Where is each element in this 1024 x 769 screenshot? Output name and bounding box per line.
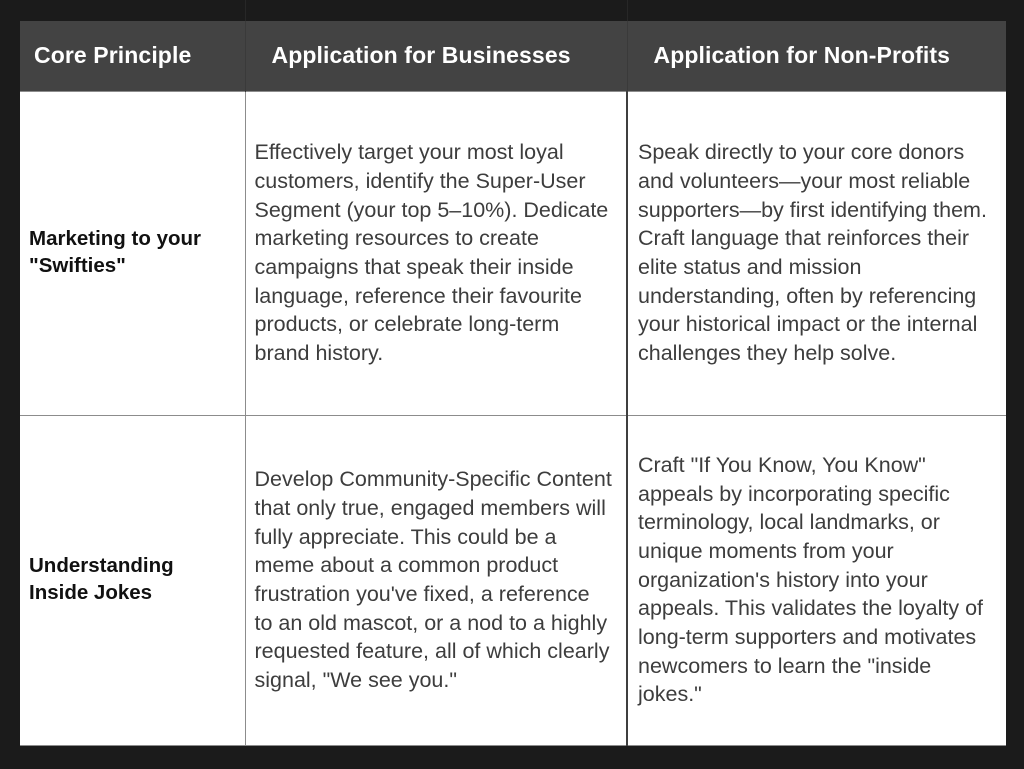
cell-core-principle: Understanding Inside Jokes xyxy=(20,415,245,745)
table-container: Core Principle Application for Businesse… xyxy=(20,21,1006,748)
column-header-application-for-non-profits: Application for Non-Profits xyxy=(627,21,1006,91)
cell-application-for-non-profits: Speak directly to your core donors and v… xyxy=(627,91,1006,415)
comparison-table: Core Principle Application for Businesse… xyxy=(20,21,1006,746)
outer-frame: Core Principle Application for Businesse… xyxy=(0,0,1024,769)
column-header-application-for-businesses: Application for Businesses xyxy=(245,21,627,91)
table-row: Understanding Inside Jokes Develop Commu… xyxy=(20,415,1006,745)
top-dark-strip xyxy=(20,0,1006,21)
cell-application-for-businesses: Effectively target your most loyal custo… xyxy=(245,91,627,415)
column-header-core-principle: Core Principle xyxy=(20,21,245,91)
table-header: Core Principle Application for Businesse… xyxy=(20,21,1006,91)
table-row: Marketing to your "Swifties" Effectively… xyxy=(20,91,1006,415)
cell-application-for-businesses: Develop Community-Specific Content that … xyxy=(245,415,627,745)
cell-core-principle: Marketing to your "Swifties" xyxy=(20,91,245,415)
column-tick-2 xyxy=(627,0,628,21)
cell-application-for-non-profits: Craft "If You Know, You Know" appeals by… xyxy=(627,415,1006,745)
header-row: Core Principle Application for Businesse… xyxy=(20,21,1006,91)
column-tick-1 xyxy=(245,0,246,21)
table-body: Marketing to your "Swifties" Effectively… xyxy=(20,91,1006,745)
